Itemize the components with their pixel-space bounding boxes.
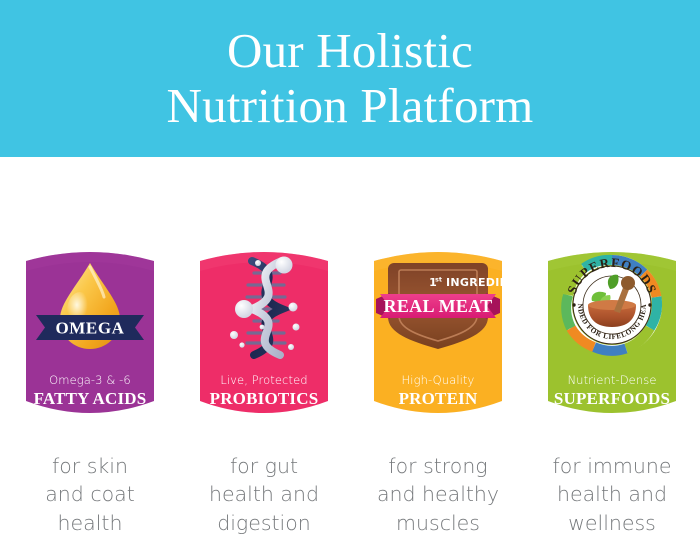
badge-main-label: FATTY ACIDS <box>22 389 158 409</box>
badge-labels: Omega-3 & -6 FATTY ACIDS <box>22 373 158 409</box>
badge-content: 1 st INGREDIENT REAL MEAT High-Quality P… <box>370 243 506 425</box>
shield-top-label-word: INGREDIENT <box>446 276 506 289</box>
meat-shield-icon: 1 st INGREDIENT REAL MEAT <box>370 249 506 361</box>
badge-main-label: PROBIOTICS <box>196 389 332 409</box>
poster-root: Our Holistic Nutrition Platform <box>0 0 700 546</box>
badge-content: Live, Protected PROBIOTICS <box>196 243 332 425</box>
caption-protein: for strong and healthy muscles <box>353 452 523 537</box>
badge-card-fatty-acids[interactable]: OMEGA Omega-3 & -6 FATTY ACIDS <box>22 243 158 425</box>
caption-probiotics: for gut health and digestion <box>179 452 349 537</box>
badge-labels: Live, Protected PROBIOTICS <box>196 373 332 409</box>
badge-labels: Nutrient-Dense SUPERFOODS <box>544 373 680 409</box>
oil-droplet-icon: OMEGA <box>22 249 158 361</box>
feature-badge-row: OMEGA Omega-3 & -6 FATTY ACIDS <box>0 243 700 425</box>
caption-superfoods: for immune health and wellness <box>527 452 697 537</box>
badge-card-probiotics[interactable]: Live, Protected PROBIOTICS <box>196 243 332 425</box>
dna-helix-icon <box>196 249 332 361</box>
badge-sub-label: Live, Protected <box>196 373 332 387</box>
badge-card-superfoods[interactable]: SUPERFOODS BLENDED FOR LIFELONG HEALTH <box>544 243 680 425</box>
badge-main-label: PROTEIN <box>370 389 506 409</box>
real-meat-banner-label: REAL MEAT <box>384 296 493 316</box>
badge-sub-label: Nutrient-Dense <box>544 373 680 387</box>
page-title: Our Holistic Nutrition Platform <box>167 24 534 134</box>
badge-content: OMEGA Omega-3 & -6 FATTY ACIDS <box>22 243 158 425</box>
omega-banner-label: OMEGA <box>55 319 124 338</box>
badge-sub-label: Omega-3 & -6 <box>22 373 158 387</box>
badge-sub-label: High-Quality <box>370 373 506 387</box>
mortar-pestle-seal-icon: SUPERFOODS BLENDED FOR LIFELONG HEALTH <box>544 249 680 361</box>
caption-row: for skin and coat health for gut health … <box>0 452 700 546</box>
badge-content: SUPERFOODS BLENDED FOR LIFELONG HEALTH <box>544 243 680 425</box>
header-banner: Our Holistic Nutrition Platform <box>0 0 700 157</box>
badge-main-label: SUPERFOODS <box>544 389 680 409</box>
caption-fatty-acids: for skin and coat health <box>5 452 175 537</box>
badge-card-protein[interactable]: 1 st INGREDIENT REAL MEAT High-Quality P… <box>370 243 506 425</box>
shield-ordinal-suffix: st <box>435 276 442 284</box>
badge-labels: High-Quality PROTEIN <box>370 373 506 409</box>
